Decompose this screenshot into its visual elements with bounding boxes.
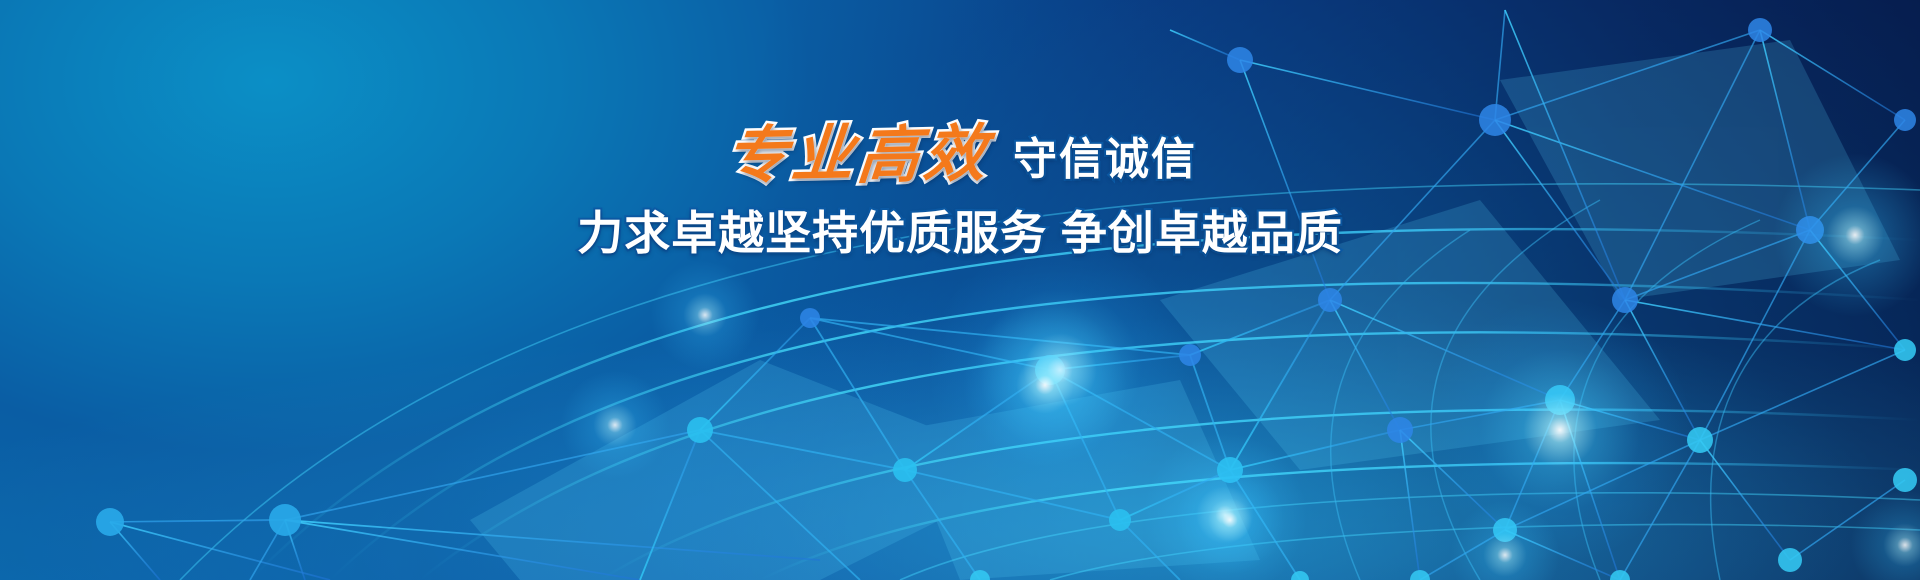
headline-line: 专业 高效 守信诚信 — [0, 124, 1920, 186]
headline-white-part: 守信诚信 — [1013, 138, 1197, 182]
headline-accent-2: 高效 — [855, 123, 992, 188]
subheadline: 力求卓越坚持优质服务 争创卓越品质 — [0, 208, 1920, 259]
slogan-block: 专业 高效 守信诚信 力求卓越坚持优质服务 争创卓越品质 — [0, 124, 1920, 259]
network-mesh-lines — [0, 0, 1920, 580]
headline-accent-1: 专业 — [723, 123, 860, 188]
hero-banner: 专业 高效 守信诚信 力求卓越坚持优质服务 争创卓越品质 — [0, 0, 1920, 580]
